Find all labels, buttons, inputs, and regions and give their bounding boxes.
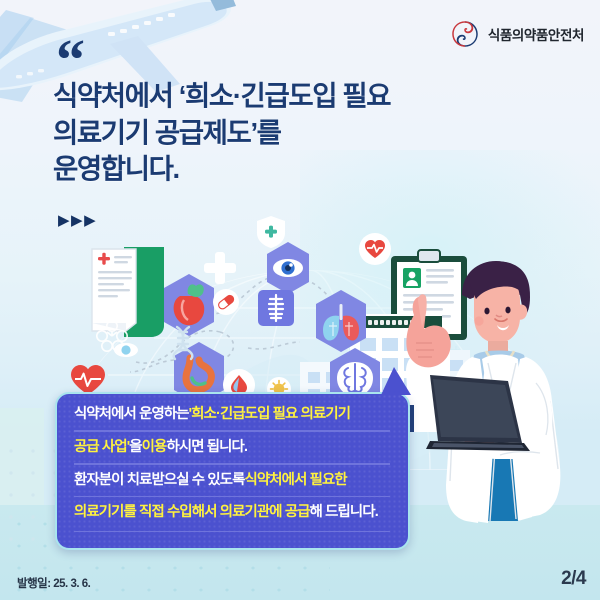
bubble-text-plain: 해 드립니다. xyxy=(310,505,378,519)
bubble-line-4: 의료기기를 직접 수입해서 의료기관에 공급해 드립니다. xyxy=(74,505,392,538)
headline-line-1: 식약처에서 ‘희소·긴급도입 필요 xyxy=(53,78,473,115)
bubble-text-highlight: 의료기기를 직접 수입해서 의료기관에 공급 xyxy=(74,505,310,519)
dna-icon xyxy=(168,324,198,362)
bubble-text-plain: 하시면 됩니다. xyxy=(166,440,247,454)
pill-circle-icon xyxy=(212,288,240,316)
eye-small-circle-icon xyxy=(112,340,140,360)
bubble-text-highlight: 이용 xyxy=(142,440,167,454)
bubble-line-1: 식약처에서 운영하는 '희소·긴급도입 필요 의료기기 xyxy=(74,407,392,440)
bubble-text-plain: 환자분이 치료받으실 수 있도록 xyxy=(74,473,245,487)
bubble-text-highlight: 식약처에서 필요한 xyxy=(245,473,347,487)
speech-bubble-text: 식약처에서 운영하는 '희소·긴급도입 필요 의료기기 공급 사업'을 이용하시… xyxy=(57,394,408,548)
agency-logo: 식품의약품안전처 xyxy=(450,19,584,49)
agency-logo-label: 식품의약품안전처 xyxy=(488,24,584,44)
doctor-with-laptop-icon xyxy=(400,255,600,600)
page-title: 식약처에서 ‘희소·긴급도입 필요 의료기기 공급제도’를 운영합니다. xyxy=(53,78,473,188)
quote-mark: “ xyxy=(56,40,82,81)
spine-hex-icon xyxy=(256,288,296,328)
left-dot-pattern xyxy=(0,440,60,550)
bubble-line-2: 공급 사업'을 이용하시면 됩니다. xyxy=(74,440,392,473)
speech-bubble-tail xyxy=(381,367,411,395)
headline-line-2: 의료기기 공급제도’를 xyxy=(53,115,473,152)
bubble-text-highlight: '희소·긴급도입 필요 의료기기 xyxy=(189,407,350,421)
infographic-card: 식품의약품안전처 “ 식약처에서 ‘희소·긴급도입 필요 의료기기 공급제도’를… xyxy=(0,0,600,600)
bubble-line-3: 환자분이 치료받으실 수 있도록 식약처에서 필요한 xyxy=(74,473,392,506)
arrow-indicator-icon: ▶▶▶ xyxy=(58,213,97,228)
bubble-text-highlight: 공급 사업' xyxy=(74,440,129,454)
bubble-text-plain: 을 xyxy=(129,440,141,454)
publish-date-label: 발행일: 25. 3. 6. xyxy=(17,575,90,591)
shield-cross-icon xyxy=(254,214,288,250)
taegeuk-logo-icon xyxy=(450,19,480,49)
bubble-text-plain: 식약처에서 운영하는 xyxy=(74,407,189,421)
plus-cross-icon xyxy=(200,248,240,288)
lungs-hex-icon xyxy=(310,288,372,354)
speech-bubble: 식약처에서 운영하는 '희소·긴급도입 필요 의료기기 공급 사업'을 이용하시… xyxy=(55,392,410,550)
headline-line-3: 운영합니다. xyxy=(53,151,473,188)
heartbeat-circle-icon xyxy=(358,232,392,266)
page-indicator: 2/4 xyxy=(561,568,586,590)
